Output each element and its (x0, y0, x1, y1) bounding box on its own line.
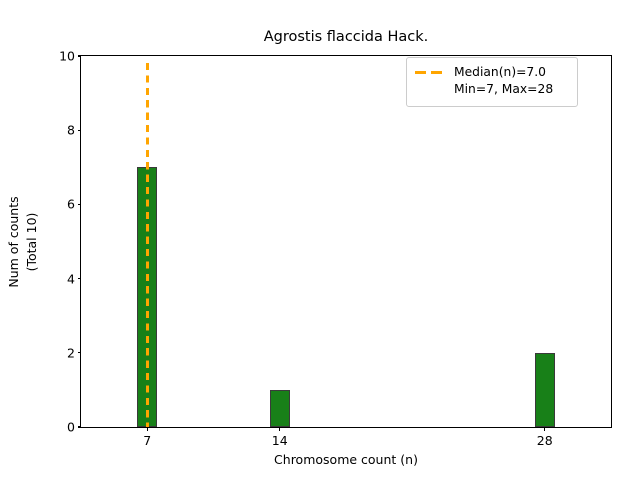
x-tick-label-28: 28 (537, 433, 553, 448)
legend-text-block: Median(n)=7.0 Min=7, Max=28 (454, 64, 553, 99)
legend-entry-median: Median(n)=7.0 (454, 64, 553, 81)
y-tick-mark-6 (78, 204, 82, 205)
plot-axes: 0246810 71428 (80, 55, 612, 428)
y-tick-label-6: 6 (67, 197, 75, 212)
y-axis-label-line-2: (Total 10) (23, 196, 41, 287)
y-axis-label: Num of counts (Total 10) (0, 55, 46, 428)
median-dashed-line-icon (415, 66, 445, 80)
legend-entry-minmax: Min=7, Max=28 (454, 81, 553, 98)
x-axis-label: Chromosome count (n) (80, 452, 612, 467)
y-tick-mark-10 (78, 55, 82, 56)
x-tick-mark-14 (279, 427, 280, 431)
y-tick-mark-8 (78, 130, 82, 131)
y-tick-mark-0 (78, 426, 82, 427)
y-axis-label-line-1: Num of counts (5, 196, 23, 287)
x-tick-mark-28 (544, 427, 545, 431)
y-tick-label-2: 2 (67, 345, 75, 360)
x-tick-label-7: 7 (143, 433, 151, 448)
chart-figure: Agrostis flaccida Hack. Num of counts (T… (0, 0, 640, 480)
y-tick-mark-2 (78, 352, 82, 353)
y-tick-mark-4 (78, 278, 82, 279)
bar-14 (270, 390, 290, 427)
y-tick-label-0: 0 (67, 420, 75, 435)
chart-title: Agrostis flaccida Hack. (80, 30, 612, 45)
bar-28 (535, 353, 555, 427)
y-tick-label-8: 8 (67, 123, 75, 138)
y-tick-label-4: 4 (67, 271, 75, 286)
median-line (146, 63, 149, 427)
x-tick-mark-7 (147, 427, 148, 431)
x-tick-label-14: 14 (272, 433, 288, 448)
y-tick-label-10: 10 (59, 49, 75, 64)
plot-area (81, 56, 611, 427)
chart-legend: Median(n)=7.0 Min=7, Max=28 (406, 57, 578, 107)
